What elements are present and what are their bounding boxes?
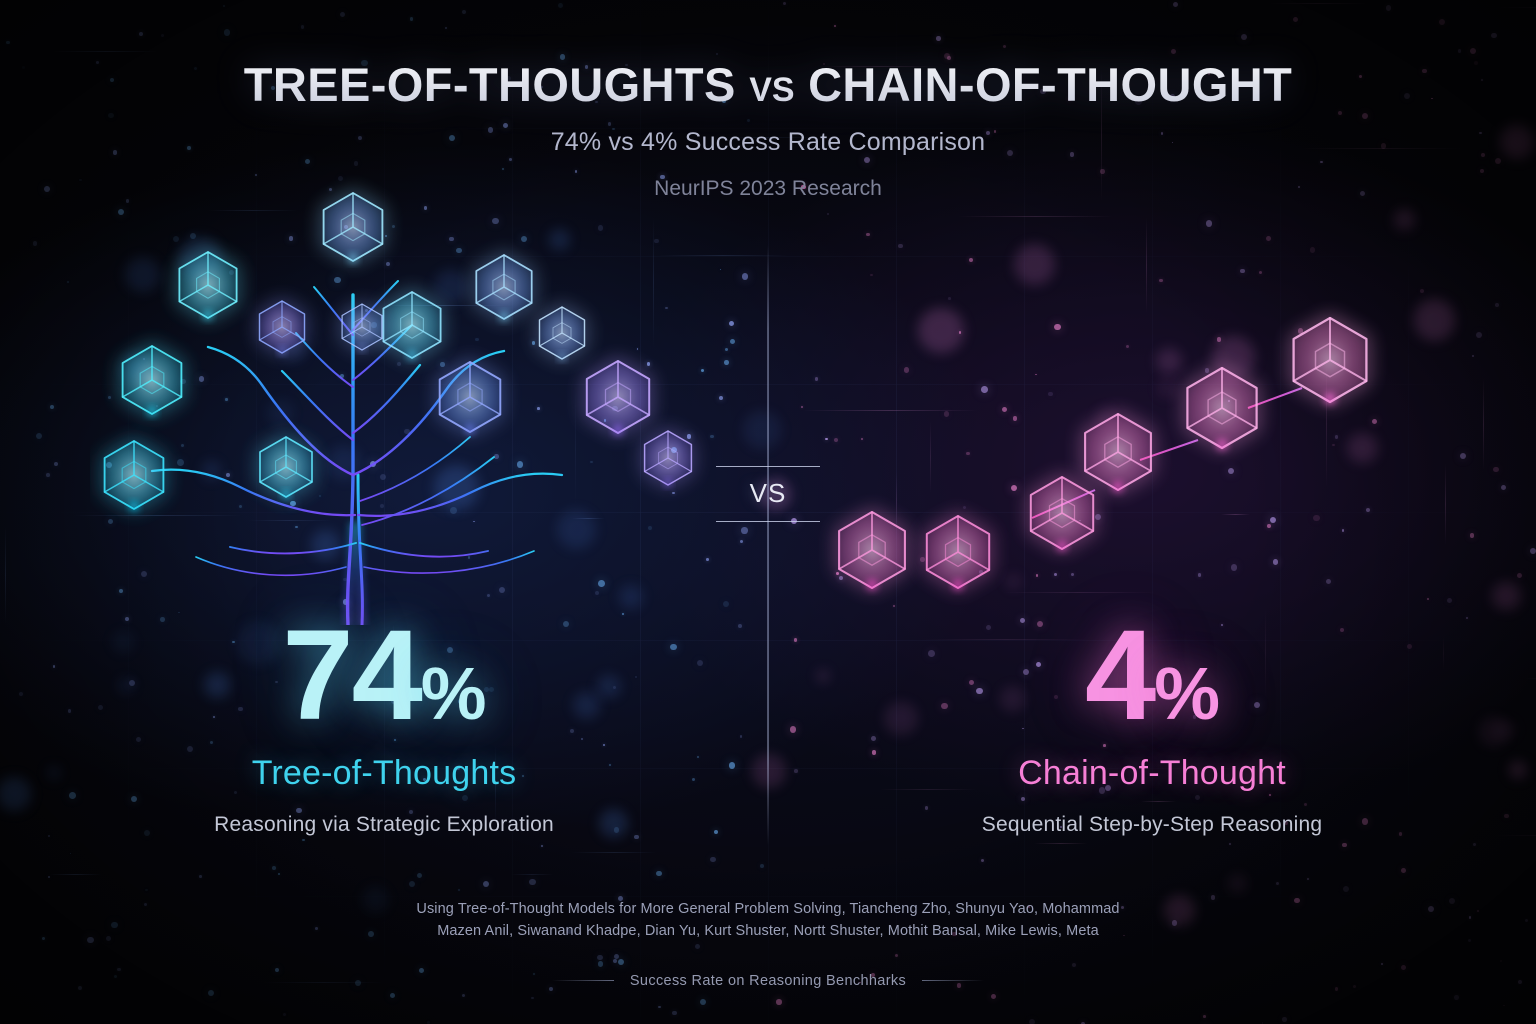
caption-row: Success Rate on Reasoning Benchharks [0,973,1536,989]
infographic-canvas: TREE-OF-THOUGHTS VS CHAIN-OF-THOUGHT 74%… [0,0,1536,1024]
page-title: TREE-OF-THOUGHTS VS CHAIN-OF-THOUGHT [0,0,1536,110]
stat-description-left: Reasoning via Strategic Exploration [0,813,768,837]
title-vs: VS [749,71,794,109]
caption-label: Success Rate on Reasoning Benchharks [630,973,906,989]
caption-rule-left [552,980,614,981]
stat-label-left: Tree-of-Thoughts [0,754,768,793]
footer: Using Tree-of-Thought Models for More Ge… [0,898,1536,989]
vs-rule-bottom [716,521,820,522]
citation: Using Tree-of-Thought Models for More Ge… [388,898,1148,943]
stat-label-right: Chain-of-Thought [768,754,1536,793]
title-right: CHAIN-OF-THOUGHT [808,58,1292,111]
tagline: NeurIPS 2023 Research [0,177,1536,201]
subtitle: 74% vs 4% Success Rate Comparison [0,128,1536,157]
caption-rule-right [922,980,984,981]
stat-block-tree-of-thoughts: 74% Tree-of-Thoughts Reasoning via Strat… [0,612,768,837]
citation-line-1: Using Tree-of-Thought Models for More Ge… [388,898,1148,920]
stat-number-left: 74 [282,604,420,747]
stat-value-right: 4% [768,612,1536,740]
citation-line-2: Mazen Anil, Siwanand Khadpe, Dian Yu, Ku… [388,920,1148,942]
stat-block-chain-of-thought: 4% Chain-of-Thought Sequential Step-by-S… [768,612,1536,837]
stat-value-left: 74% [0,612,768,740]
stats-row: 74% Tree-of-Thoughts Reasoning via Strat… [0,612,1536,837]
title-left: TREE-OF-THOUGHTS [244,58,736,111]
vs-badge: VS [708,466,828,522]
stat-unit-left: % [421,652,486,735]
stat-description-right: Sequential Step-by-Step Reasoning [768,813,1536,837]
vs-label: VS [708,467,828,521]
header: TREE-OF-THOUGHTS VS CHAIN-OF-THOUGHT 74%… [0,0,1536,201]
stat-unit-right: % [1154,652,1219,735]
stat-number-right: 4 [1085,604,1154,747]
